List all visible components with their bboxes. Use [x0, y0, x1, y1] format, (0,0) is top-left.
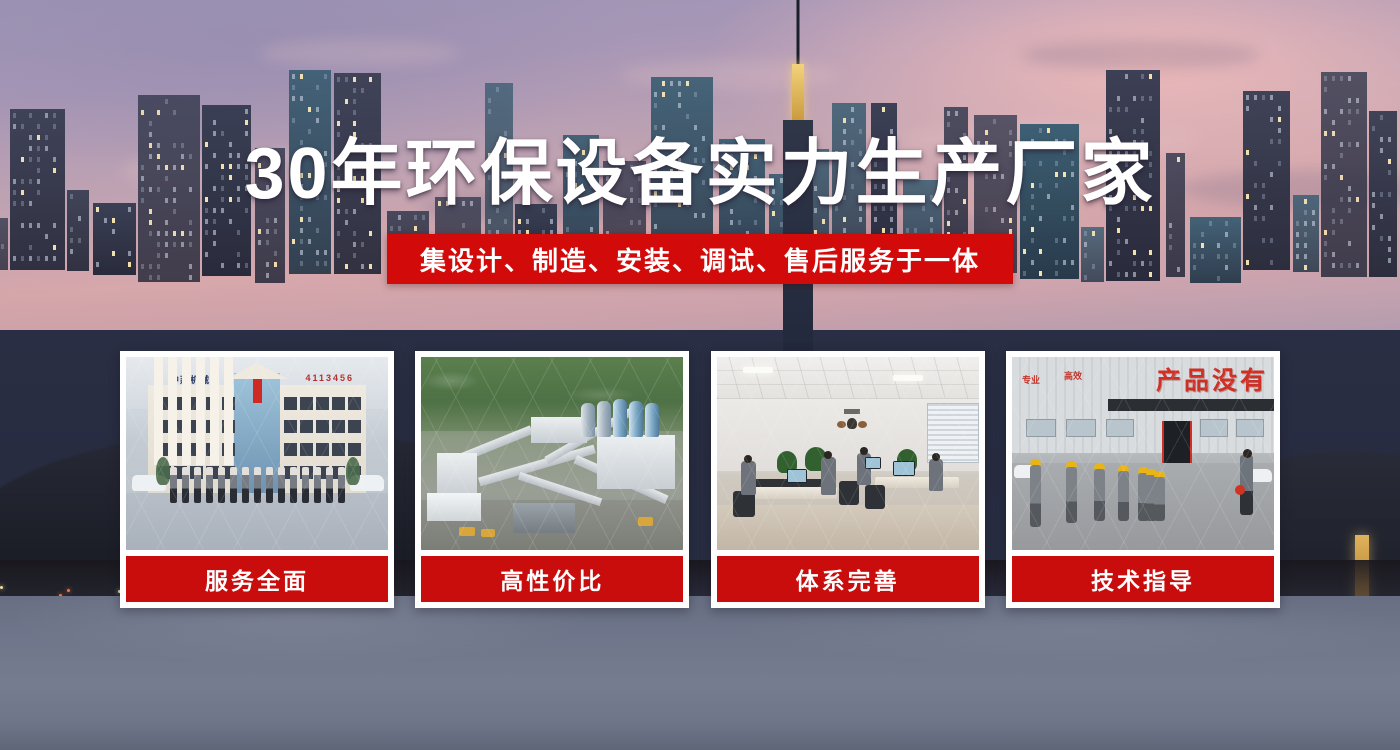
subtitle-banner: 集设计、制造、安装、调试、售后服务于一体	[387, 234, 1013, 284]
card-caption: 技术指导	[1012, 556, 1274, 602]
card-caption-text: 服务全面	[205, 562, 309, 596]
hero-banner: 30年环保设备实力生产厂家 集设计、制造、安装、调试、售后服务于一体 中燕机械 …	[0, 0, 1400, 750]
card-photo-industrial-plant	[421, 357, 683, 550]
card-caption-text: 高性价比	[500, 562, 604, 596]
card-photo-office-interior	[717, 357, 979, 550]
building-phone-text: 4113456	[305, 373, 354, 383]
card-caption-text: 技术指导	[1091, 562, 1195, 596]
feature-card[interactable]: 体系完善	[711, 351, 985, 608]
feature-card[interactable]: 高性价比	[415, 351, 689, 608]
card-caption: 体系完善	[717, 556, 979, 602]
flag	[253, 379, 262, 403]
card-photo-factory-workers: 产品没有 专业 高效	[1012, 357, 1274, 550]
page-title: 30年环保设备实力生产厂家	[0, 133, 1400, 215]
card-caption-text: 体系完善	[796, 562, 900, 596]
card-photo-office-building: 中燕机械 4113456	[126, 357, 388, 550]
feature-card[interactable]: 产品没有 专业 高效 技术指导	[1006, 351, 1280, 608]
factory-slogan-1: 专业	[1022, 373, 1040, 386]
factory-big-slogan: 产品没有	[1156, 361, 1268, 397]
factory-slogan-2: 高效	[1064, 369, 1082, 382]
feature-card[interactable]: 中燕机械 4113456 服务全面	[120, 351, 394, 608]
wall-decal	[835, 409, 869, 439]
subtitle-text: 集设计、制造、安装、调试、售后服务于一体	[420, 241, 980, 278]
card-caption: 高性价比	[421, 556, 683, 602]
factory-door	[1162, 421, 1192, 463]
feature-card-list: 中燕机械 4113456 服务全面	[120, 351, 1280, 608]
card-caption: 服务全面	[126, 556, 388, 602]
